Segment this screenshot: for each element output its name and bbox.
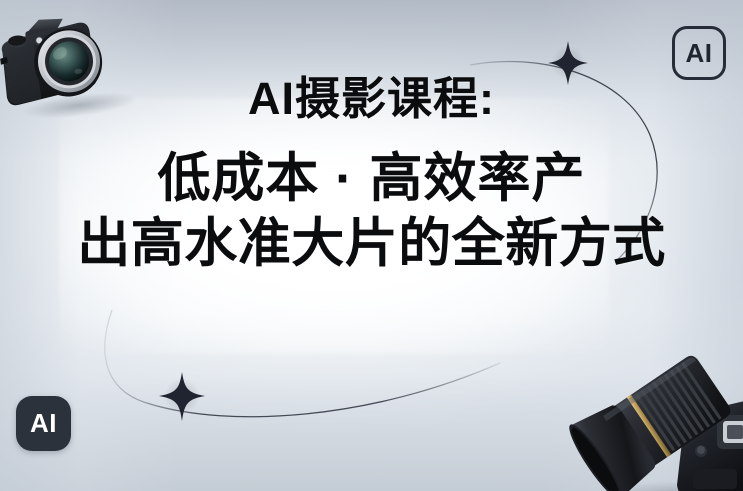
poster-canvas: AI摄影课程: 低成本 · 高效率产 出高水准大片的全新方式 AI AI — [0, 0, 743, 491]
headline-line-2: 低成本 · 高效率产 — [0, 148, 743, 210]
headline-line-3: 出高水准大片的全新方式 — [0, 212, 743, 276]
ai-badge-outline-label: AI — [686, 38, 713, 69]
headline-group: AI摄影课程: 低成本 · 高效率产 出高水准大片的全新方式 — [0, 72, 743, 276]
ai-badge-filled: AI — [16, 396, 71, 451]
ai-badge-filled-label: AI — [30, 408, 57, 439]
headline-line-1: AI摄影课程: — [0, 72, 743, 126]
dslr-telephoto-illustration — [567, 323, 743, 491]
ai-badge-outline: AI — [672, 26, 726, 80]
